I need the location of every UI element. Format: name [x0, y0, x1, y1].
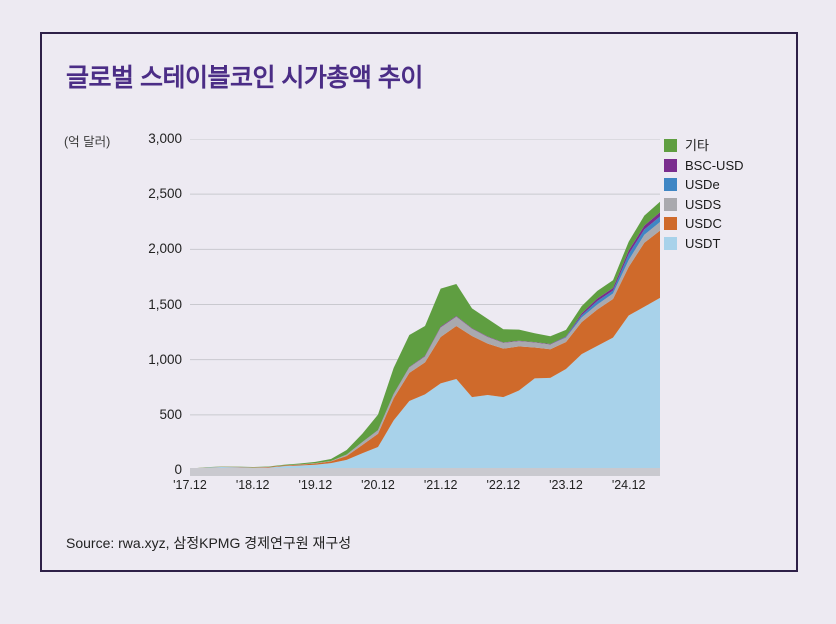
legend-label: USDe: [685, 178, 720, 191]
x-axis-tick-label: '19.12: [298, 478, 332, 492]
legend-label: USDC: [685, 217, 722, 230]
stacked-area-plot: [190, 139, 660, 470]
legend-label: BSC-USD: [685, 159, 744, 172]
y-axis-tick-labels: 05001,0001,5002,0002,5003,000: [120, 131, 182, 481]
x-axis-tick-label: '20.12: [361, 478, 395, 492]
legend-swatch-icon: [664, 237, 677, 250]
x-axis-tick-labels: '17.12'18.12'19.12'20.12'21.12'22.12'23.…: [190, 478, 660, 500]
source-note: Source: rwa.xyz, 삼정KPMG 경제연구원 재구성: [66, 533, 351, 553]
y-axis-tick-label: 2,500: [148, 186, 182, 202]
legend-label: USDT: [685, 237, 720, 250]
legend-item[interactable]: USDe: [664, 175, 784, 194]
legend-swatch-icon: [664, 139, 677, 152]
x-axis-tick-label: '17.12: [173, 478, 207, 492]
legend-item[interactable]: USDC: [664, 214, 784, 233]
x-axis-tick-label: '24.12: [612, 478, 646, 492]
x-axis-tick-label: '22.12: [486, 478, 520, 492]
chart-legend: 기타BSC-USDUSDeUSDSUSDCUSDT: [664, 136, 784, 253]
y-axis-tick-label: 0: [174, 462, 182, 478]
legend-label: 기타: [685, 139, 709, 152]
x-axis-baseline: [190, 468, 660, 476]
legend-swatch-icon: [664, 217, 677, 230]
y-axis-tick-label: 2,000: [148, 241, 182, 257]
y-axis-unit-label: (억 달러): [64, 131, 110, 150]
y-axis-tick-label: 500: [159, 407, 182, 423]
legend-swatch-icon: [664, 198, 677, 211]
legend-item[interactable]: 기타: [664, 136, 784, 155]
plot-svg: [190, 139, 660, 470]
legend-item[interactable]: BSC-USD: [664, 156, 784, 175]
chart-page: 글로벌 스테이블코인 시가총액 추이 (억 달러) 05001,0001,500…: [0, 0, 836, 624]
x-axis-tick-label: '23.12: [549, 478, 583, 492]
page-title: 글로벌 스테이블코인 시가총액 추이: [66, 58, 423, 94]
x-axis-tick-label: '21.12: [424, 478, 458, 492]
legend-swatch-icon: [664, 159, 677, 172]
y-axis-tick-label: 1,500: [148, 297, 182, 313]
legend-swatch-icon: [664, 178, 677, 191]
legend-item[interactable]: USDT: [664, 234, 784, 253]
y-axis-tick-label: 3,000: [148, 131, 182, 147]
x-axis-tick-label: '18.12: [236, 478, 270, 492]
y-axis-tick-label: 1,000: [148, 352, 182, 368]
legend-label: USDS: [685, 198, 721, 211]
legend-item[interactable]: USDS: [664, 195, 784, 214]
